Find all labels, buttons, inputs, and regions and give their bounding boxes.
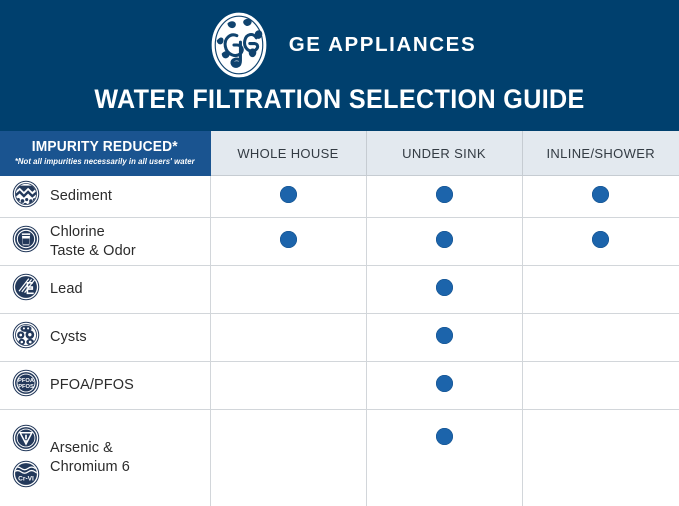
impurity-name: Sediment bbox=[50, 187, 112, 206]
page-title: WATER FILTRATION SELECTION GUIDE bbox=[24, 84, 655, 115]
cell-sediment-inline-shower bbox=[522, 176, 679, 218]
filtration-selection-table: IMPURITY REDUCED* *Not all impurities ne… bbox=[0, 131, 679, 506]
cell-chlorine-under-sink bbox=[366, 218, 522, 266]
column-header-inline-shower: INLINE/SHOWER bbox=[522, 131, 679, 176]
table-row: Chlorine Taste & Odor bbox=[0, 218, 679, 266]
table-row: Cr-VI Arsenic & Chromium 6 bbox=[0, 410, 679, 506]
impurity-cell-cysts: Cysts bbox=[0, 314, 210, 362]
pfoa-pfos-icon: PFOA PFOS bbox=[12, 369, 40, 402]
availability-dot bbox=[436, 186, 453, 203]
availability-dot bbox=[280, 186, 297, 203]
cell-sediment-under-sink bbox=[366, 176, 522, 218]
table-row: Cysts bbox=[0, 314, 679, 362]
table-body: Sediment bbox=[0, 176, 679, 506]
cell-cysts-under-sink bbox=[366, 314, 522, 362]
impurity-cell-pfoa-pfos: PFOA PFOS PFOA/PFOS bbox=[0, 362, 210, 410]
table-row: Sediment bbox=[0, 176, 679, 218]
impurity-name: PFOA/PFOS bbox=[50, 376, 134, 395]
cell-lead-whole-house bbox=[210, 266, 366, 314]
arsenic-icon bbox=[12, 424, 40, 457]
impurity-name: Lead bbox=[50, 280, 83, 299]
cell-pfoa-pfos-inline-shower bbox=[522, 362, 679, 410]
impurity-name: Arsenic & Chromium 6 bbox=[50, 439, 130, 477]
chromium-6-icon: Cr-VI bbox=[12, 460, 40, 493]
column-header-whole-house: WHOLE HOUSE bbox=[210, 131, 366, 176]
impurity-cell-arsenic-chromium: Cr-VI Arsenic & Chromium 6 bbox=[0, 410, 210, 506]
table-row: PFOA PFOS PFOA/PFOS bbox=[0, 362, 679, 410]
impurity-name: Chlorine Taste & Odor bbox=[50, 223, 136, 261]
cell-arsenic-chromium-whole-house bbox=[210, 410, 366, 506]
impurity-reduced-header: IMPURITY REDUCED* *Not all impurities ne… bbox=[0, 131, 210, 176]
availability-dot bbox=[280, 231, 297, 248]
cell-lead-under-sink bbox=[366, 266, 522, 314]
lead-icon bbox=[12, 273, 40, 306]
cell-pfoa-pfos-under-sink bbox=[366, 362, 522, 410]
sediment-icon bbox=[12, 180, 40, 213]
impurity-cell-chlorine: Chlorine Taste & Odor bbox=[0, 218, 210, 266]
availability-dot bbox=[436, 279, 453, 296]
svg-text:PFOS: PFOS bbox=[18, 384, 34, 390]
cell-chlorine-inline-shower bbox=[522, 218, 679, 266]
brand-name: GE APPLIANCES bbox=[289, 33, 476, 57]
impurity-header-footnote: *Not all impurities necessarily in all u… bbox=[7, 157, 202, 167]
svg-text:PFOA: PFOA bbox=[18, 378, 34, 384]
availability-dot bbox=[436, 231, 453, 248]
brand-row: GE APPLIANCES bbox=[0, 0, 679, 81]
header-banner: GE APPLIANCES WATER FILTRATION SELECTION… bbox=[0, 0, 679, 131]
column-header-under-sink: UNDER SINK bbox=[366, 131, 522, 176]
cell-pfoa-pfos-whole-house bbox=[210, 362, 366, 410]
availability-dot bbox=[592, 186, 609, 203]
cell-arsenic-chromium-under-sink bbox=[366, 410, 522, 506]
svg-text:Cr-VI: Cr-VI bbox=[18, 475, 34, 482]
availability-dot bbox=[436, 327, 453, 344]
impurity-name: Cysts bbox=[50, 328, 87, 347]
cell-chlorine-whole-house bbox=[210, 218, 366, 266]
impurity-header-title: IMPURITY REDUCED* bbox=[9, 140, 200, 156]
cysts-icon bbox=[12, 321, 40, 354]
cell-arsenic-chromium-inline-shower bbox=[522, 410, 679, 506]
availability-dot bbox=[436, 428, 453, 445]
chlorine-taste-odor-icon bbox=[12, 225, 40, 258]
availability-dot bbox=[592, 231, 609, 248]
ge-monogram-icon bbox=[203, 9, 275, 81]
availability-dot bbox=[436, 375, 453, 392]
impurity-cell-lead: Lead bbox=[0, 266, 210, 314]
cell-lead-inline-shower bbox=[522, 266, 679, 314]
table-row: Lead bbox=[0, 266, 679, 314]
cell-cysts-inline-shower bbox=[522, 314, 679, 362]
table-header: IMPURITY REDUCED* *Not all impurities ne… bbox=[0, 131, 679, 176]
cell-sediment-whole-house bbox=[210, 176, 366, 218]
cell-cysts-whole-house bbox=[210, 314, 366, 362]
impurity-cell-sediment: Sediment bbox=[0, 176, 210, 218]
